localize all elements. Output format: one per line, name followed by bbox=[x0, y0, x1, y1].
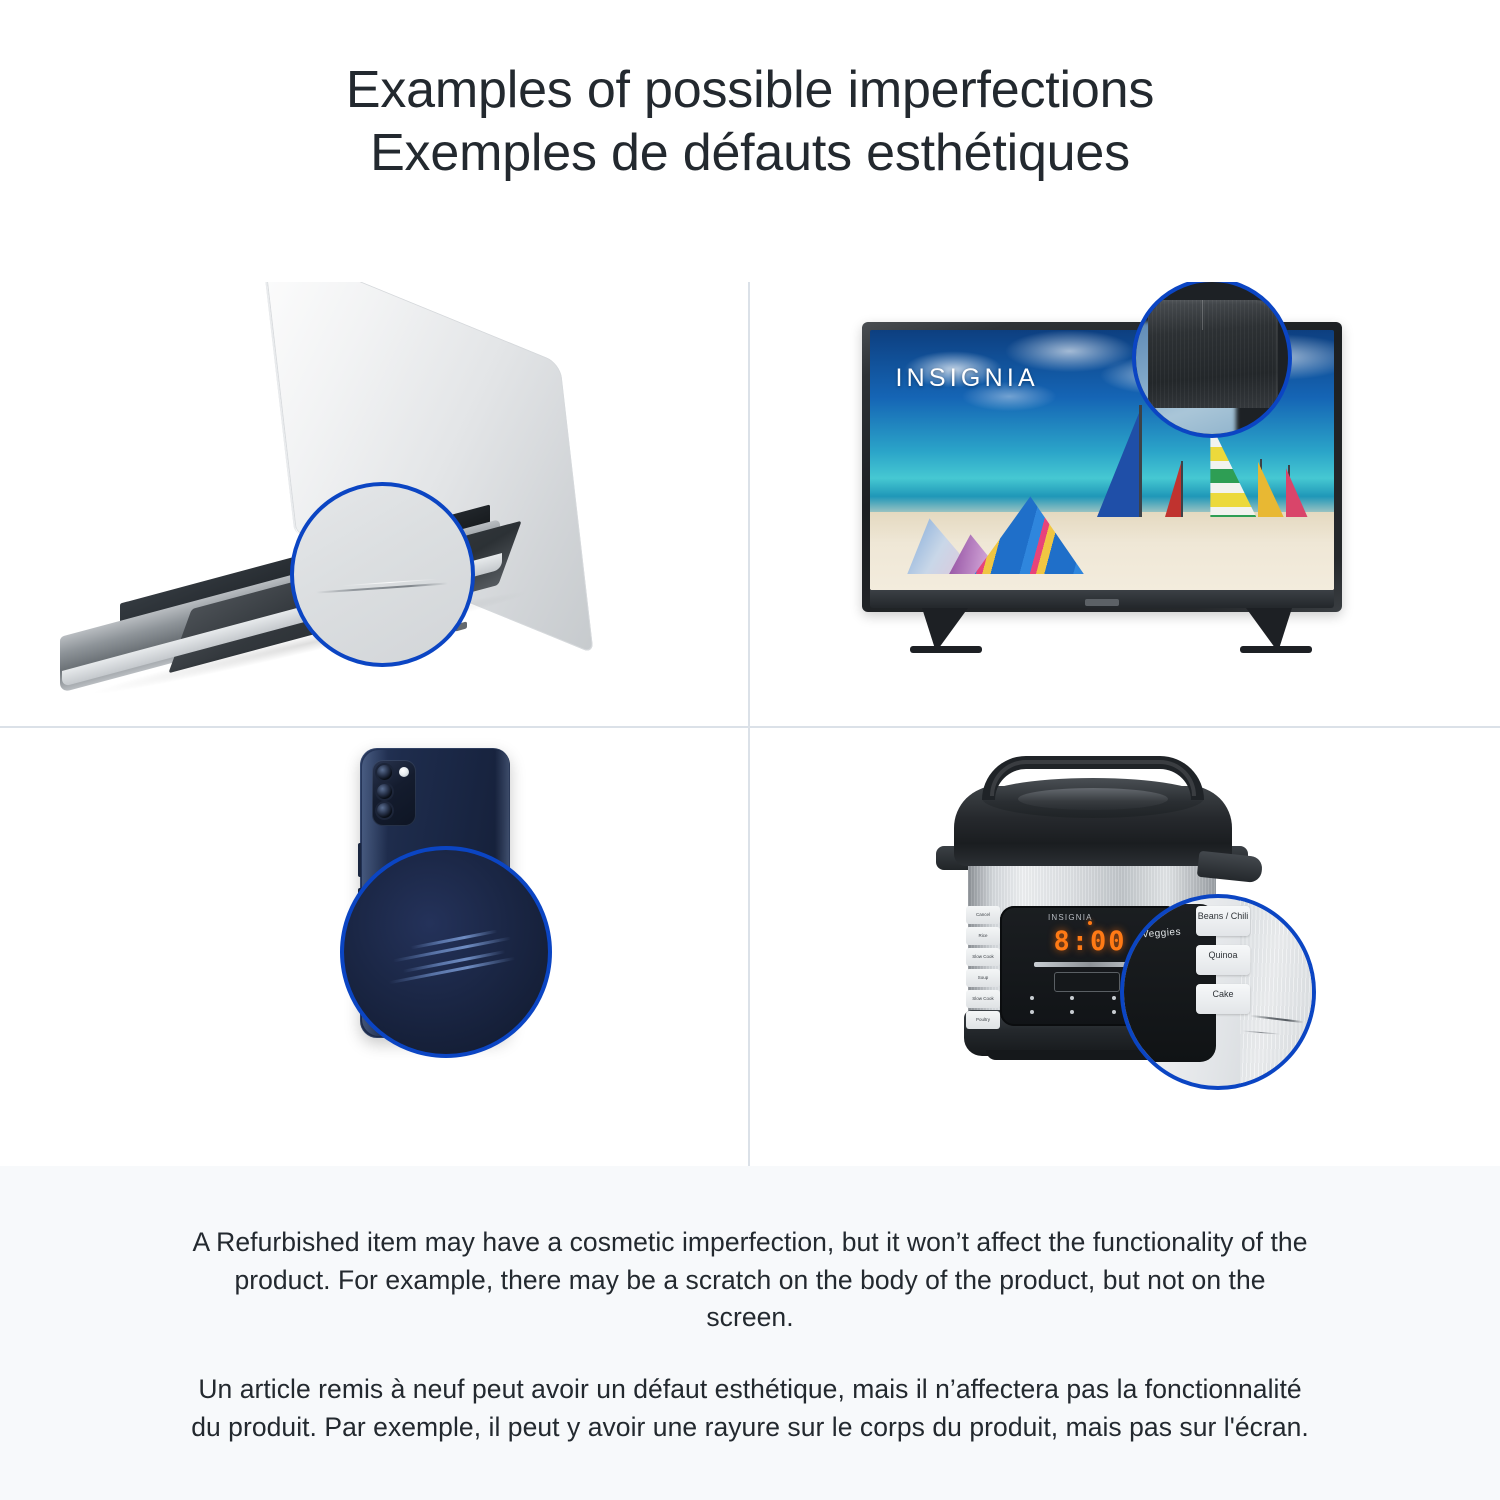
cooker-key-magnified: Beans / Chili bbox=[1196, 906, 1250, 936]
cooker-key[interactable]: Slow Cook bbox=[966, 990, 1000, 1008]
page-header: Examples of possible imperfections Exemp… bbox=[0, 0, 1500, 182]
example-cell-tv: INSIGNIA bbox=[750, 282, 1500, 726]
example-cell-phone bbox=[0, 728, 748, 1166]
cooker-key[interactable]: Cancel bbox=[966, 906, 1000, 924]
tv-logo-badge bbox=[1085, 599, 1119, 606]
scratch-mark-icon bbox=[316, 582, 448, 593]
cooker-key-magnified: Quinoa bbox=[1196, 945, 1250, 975]
cooker-pressure-cook-button[interactable] bbox=[1054, 972, 1120, 992]
disclaimer-text-fr: Un article remis à neuf peut avoir un dé… bbox=[190, 1371, 1310, 1446]
tv-screen-sailboat-pink bbox=[1288, 465, 1290, 517]
cooker-key[interactable]: Poultry bbox=[966, 1011, 1000, 1029]
page-title-en: Examples of possible imperfections bbox=[0, 62, 1500, 119]
camera-flash-icon bbox=[399, 767, 409, 777]
magnifier-circle-phone bbox=[340, 846, 552, 1058]
magnifier-circle-laptop bbox=[290, 482, 475, 667]
tv-bezel-seam bbox=[1202, 300, 1203, 330]
phone-volume-button bbox=[358, 843, 361, 877]
example-cell-laptop bbox=[0, 282, 748, 726]
camera-lens-icon-1 bbox=[377, 765, 392, 780]
cooker-key[interactable]: Soup bbox=[966, 969, 1000, 987]
tv-corner-bezel-scuff bbox=[1148, 300, 1278, 408]
cooker-dot bbox=[1030, 996, 1034, 1000]
cooker-keypad-left[interactable]: Cancel Rice Slow Cook Soup Slow Cook Pou… bbox=[966, 906, 1000, 1029]
cooker-dot bbox=[1070, 996, 1074, 1000]
footer-disclaimer: A Refurbished item may have a cosmetic i… bbox=[0, 1166, 1500, 1500]
magnifier-circle-tv bbox=[1132, 282, 1292, 438]
laptop-illustration bbox=[0, 282, 748, 726]
pressure-cooker-illustration: Cancel Rice Slow Cook Soup Slow Cook Pou… bbox=[750, 728, 1500, 1166]
cooker-dot bbox=[1112, 1010, 1116, 1014]
cooker-key[interactable]: Rice bbox=[966, 927, 1000, 945]
example-cell-pressure-cooker: Cancel Rice Slow Cook Soup Slow Cook Pou… bbox=[750, 728, 1500, 1166]
tv-screen-sailboat-red bbox=[1181, 461, 1183, 517]
tv-illustration: INSIGNIA bbox=[750, 282, 1500, 726]
cooker-keys-magnified: Beans / Chili Quinoa Cake bbox=[1196, 906, 1250, 1014]
tv-screen-sailboat-yellow bbox=[1260, 459, 1262, 517]
cooker-led-display: 8:00 bbox=[1044, 928, 1136, 956]
cooker-key-magnified: Cake bbox=[1196, 984, 1250, 1014]
disclaimer-text-en: A Refurbished item may have a cosmetic i… bbox=[190, 1224, 1310, 1337]
cooker-dot bbox=[1070, 1010, 1074, 1014]
cooker-dot bbox=[1030, 1010, 1034, 1014]
product-examples-grid: INSIGNIA bbox=[0, 282, 1500, 1166]
tv-brand-logo: INSIGNIA bbox=[896, 364, 1039, 393]
cooker-led-indicator bbox=[1088, 921, 1092, 925]
cooker-key[interactable]: Slow Cook bbox=[966, 948, 1000, 966]
tv-foot-right bbox=[1240, 646, 1312, 653]
camera-lens-icon-3 bbox=[377, 803, 392, 818]
cooker-brand-label: INSIGNIA bbox=[1048, 913, 1093, 922]
camera-lens-icon-2 bbox=[377, 784, 392, 799]
magnifier-circle-cooker: Veggies Beans / Chili Quinoa Cake bbox=[1120, 894, 1316, 1090]
page-title-fr: Exemples de défauts esthétiques bbox=[0, 125, 1500, 182]
cooker-handle-highlight bbox=[990, 760, 1196, 796]
cooker-steel-magnified bbox=[1240, 898, 1316, 1090]
phone-illustration bbox=[0, 728, 748, 1166]
cooker-dot bbox=[1112, 996, 1116, 1000]
tv-foot-left bbox=[910, 646, 982, 653]
phone-camera-module bbox=[372, 760, 416, 826]
